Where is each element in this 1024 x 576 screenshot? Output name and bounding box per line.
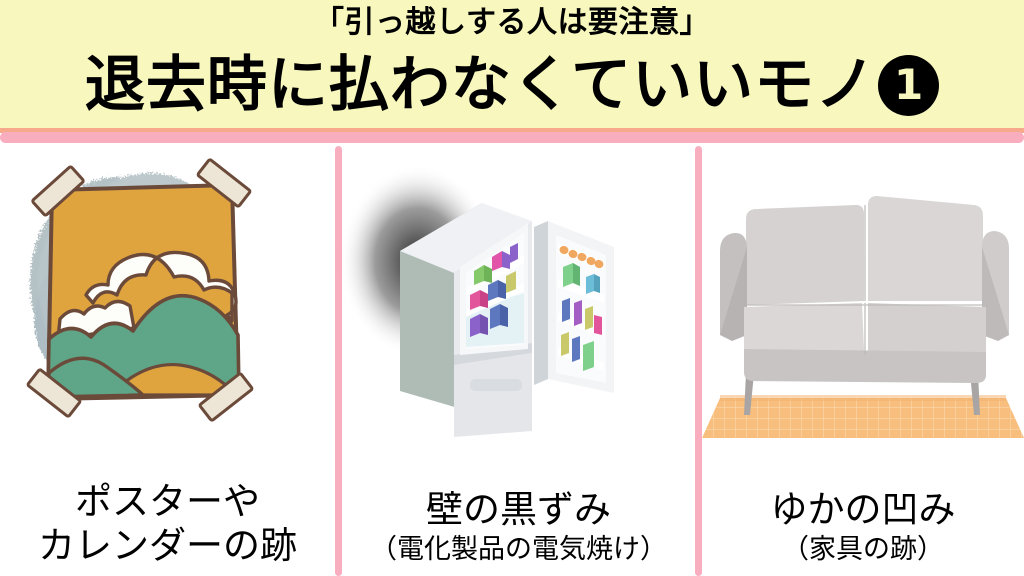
header-banner: 「引っ越しする人は要注意」 退去時に払わなくていいモノ 1	[0, 0, 1024, 131]
caption-floor-sub: （家具の跡）	[702, 532, 1024, 568]
panel-row: ポスターや カレンダーの跡	[0, 143, 1024, 576]
caption-floor-main: ゆかの凹み	[702, 488, 1024, 532]
poster-illustration	[0, 143, 335, 438]
page-title: 退去時に払わなくていいモノ	[85, 49, 876, 121]
poster-sheet	[48, 185, 239, 399]
caption-poster-line2: カレンダーの跡	[0, 524, 335, 568]
infographic-page: 「引っ越しする人は要注意」 退去時に払わなくていいモノ 1	[0, 0, 1024, 576]
step-number-badge: 1	[878, 55, 939, 116]
refrigerator-illustration	[342, 143, 695, 438]
header-subtitle: 「引っ越しする人は要注意」	[0, 3, 1024, 43]
caption-wall-sub: （電化製品の電気焼け）	[342, 532, 695, 568]
panel-floor-dents: ゆかの凹み （家具の跡）	[702, 143, 1024, 576]
caption-floor-dents: ゆかの凹み （家具の跡）	[702, 488, 1024, 568]
sofa-illustration	[702, 143, 1024, 438]
caption-wall-blackening: 壁の黒ずみ （電化製品の電気焼け）	[342, 488, 695, 568]
fridge-door	[534, 221, 614, 393]
caption-poster-line1: ポスターや	[0, 480, 335, 524]
panel-poster-marks: ポスターや カレンダーの跡	[0, 143, 335, 576]
header-title-row: 退去時に払わなくていいモノ 1	[0, 44, 1024, 126]
caption-poster: ポスターや カレンダーの跡	[0, 480, 335, 568]
panel-wall-blackening: 壁の黒ずみ （電化製品の電気焼け）	[342, 143, 695, 576]
caption-wall-main: 壁の黒ずみ	[342, 488, 695, 532]
pink-divider-bar	[0, 132, 1024, 143]
